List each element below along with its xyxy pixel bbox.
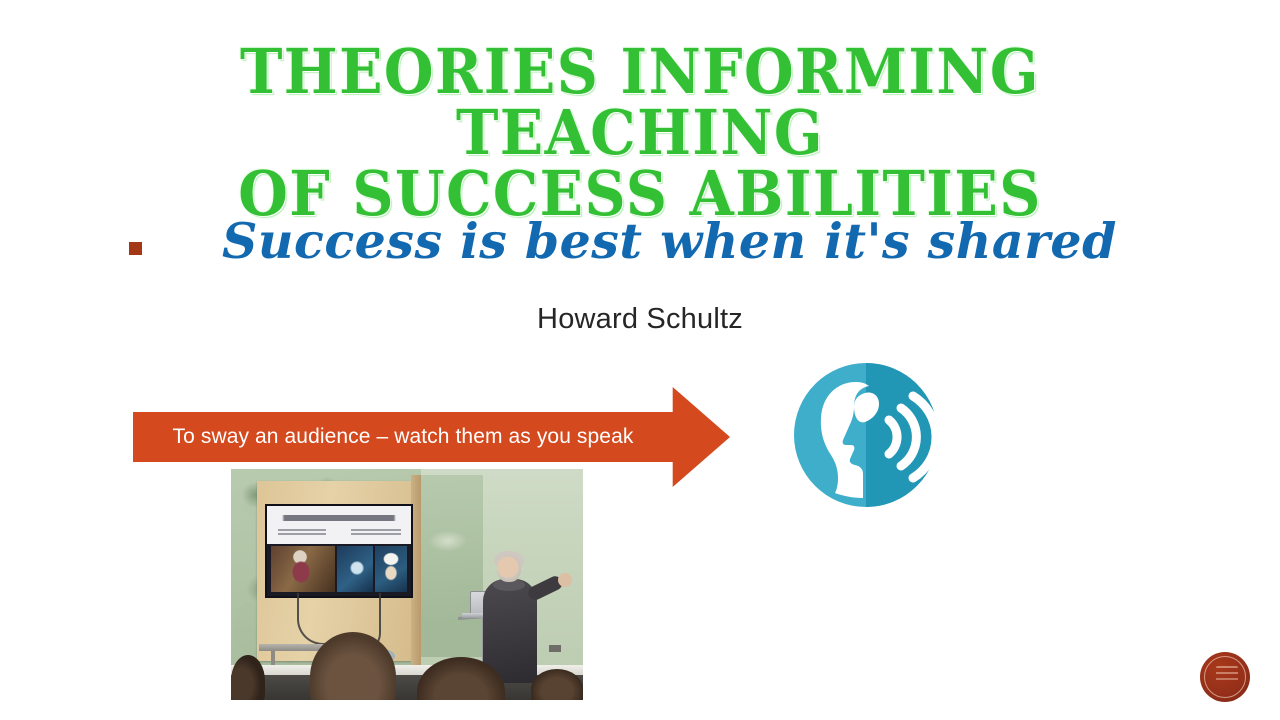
page-title: THEORIES INFORMING TEACHING OF SUCCESS A… [0,42,1280,224]
quote-attribution: Howard Schultz [0,303,1280,336]
quote-row: Success is best when it's shared [0,212,1280,292]
photo-slide-subtitle-left [278,529,326,537]
photo-presenter-head [497,555,521,582]
presentation-photo [231,469,583,700]
photo-slide-title-line [277,515,401,521]
bullet-square-icon [129,242,142,255]
photo-presenter-hand [558,573,572,587]
photo-slide-image-1 [271,546,335,592]
seal-emblem-mark [1216,666,1238,686]
speaking-head-icon [793,362,939,508]
photo-slide-subtitle-right [351,529,401,537]
slide-canvas: THEORIES INFORMING TEACHING OF SUCCESS A… [0,0,1280,720]
photo-display-screen [265,504,413,598]
photo-slide-image-2 [337,546,373,592]
title-line-1: THEORIES INFORMING TEACHING [51,42,1229,164]
photo-slide-area [267,506,411,544]
photo-wall-socket [549,645,561,652]
photo-audience-head-left [231,655,265,700]
institution-seal-logo [1200,652,1250,702]
arrow-banner-label: To sway an audience – watch them as you … [133,412,673,462]
quote-text: Success is best when it's shared [222,212,1117,270]
photo-slide-image-3 [375,546,407,592]
